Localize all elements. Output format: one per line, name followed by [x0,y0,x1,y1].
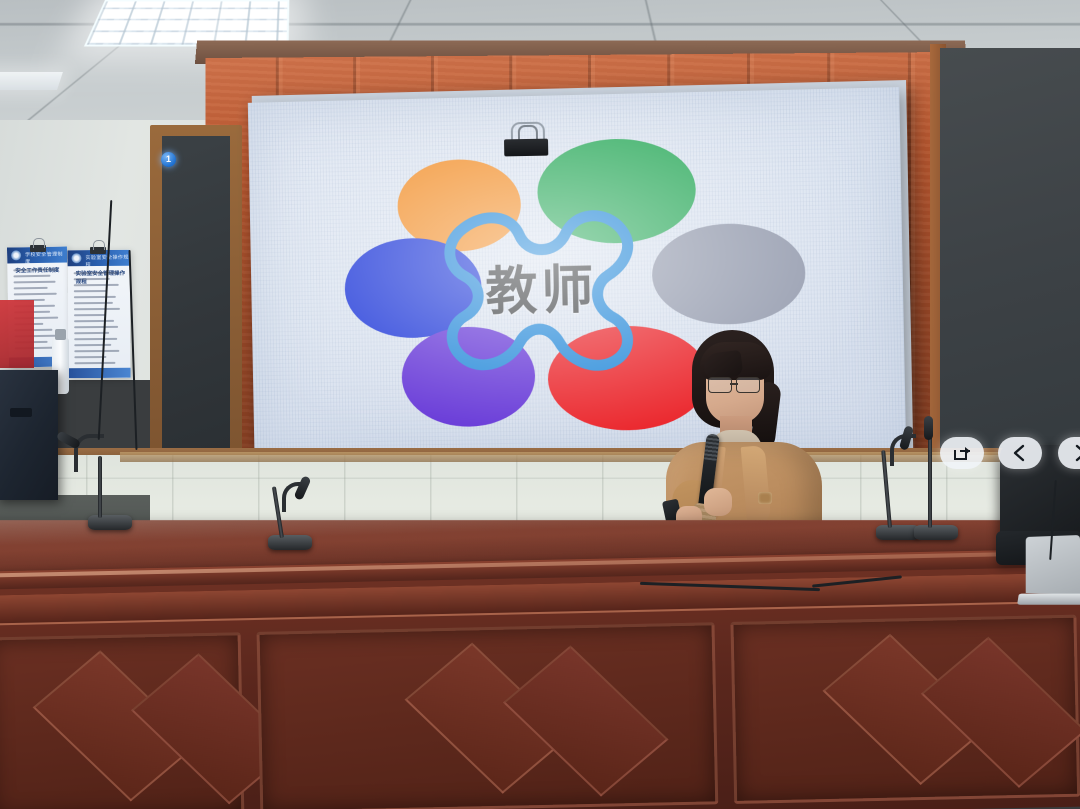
blackboard-left [162,136,230,451]
podium-panel [0,632,244,809]
gooseneck-microphone-1 [48,430,108,530]
binder-clip [500,122,553,157]
screenshot-root: 学校安全管理制度 安全工作责任制度 实验室安全操作规程 实验室安全管理操作规程 [0,0,1080,809]
podium-front-face [0,566,1080,809]
podium-panel [730,615,1080,804]
poster-seal-icon [71,253,81,263]
eyeglasses-icon [706,377,762,392]
poster-clip-left [30,238,46,252]
speaker-port [10,408,32,417]
poster-header-title: 学校安全管理制度 [25,250,67,265]
overlay-button-bar[interactable] [940,437,1080,469]
laptop [1018,536,1080,608]
laptop-base [1017,594,1080,605]
share-button[interactable] [940,437,984,469]
chevron-left-icon [1011,444,1029,462]
poster-clip-right [90,240,106,254]
share-icon [952,444,972,462]
poster-seal-icon [11,250,21,260]
wall-poster-right: 实验室安全操作规程 实验室安全管理操作规程 [67,250,130,379]
poster-footer [68,368,130,379]
sanitizer-pump-cap [55,329,66,340]
previous-button[interactable] [998,437,1042,469]
chevron-right-icon [1071,444,1080,462]
red-wall-sign [0,300,34,368]
laptop-lid [1026,535,1080,595]
blackboard-right [940,48,1080,478]
presenter-hand-right [704,488,732,516]
corner-badge: 1 [161,152,176,167]
gooseneck-microphone-2 [262,470,322,550]
light-louver-grid [87,1,288,44]
presenter-coat-emblem [758,492,772,504]
next-button[interactable] [1058,437,1080,469]
ceiling-light-panel-secondary [0,72,63,90]
podium-panel [257,622,719,809]
poster-text-lines [74,272,125,364]
